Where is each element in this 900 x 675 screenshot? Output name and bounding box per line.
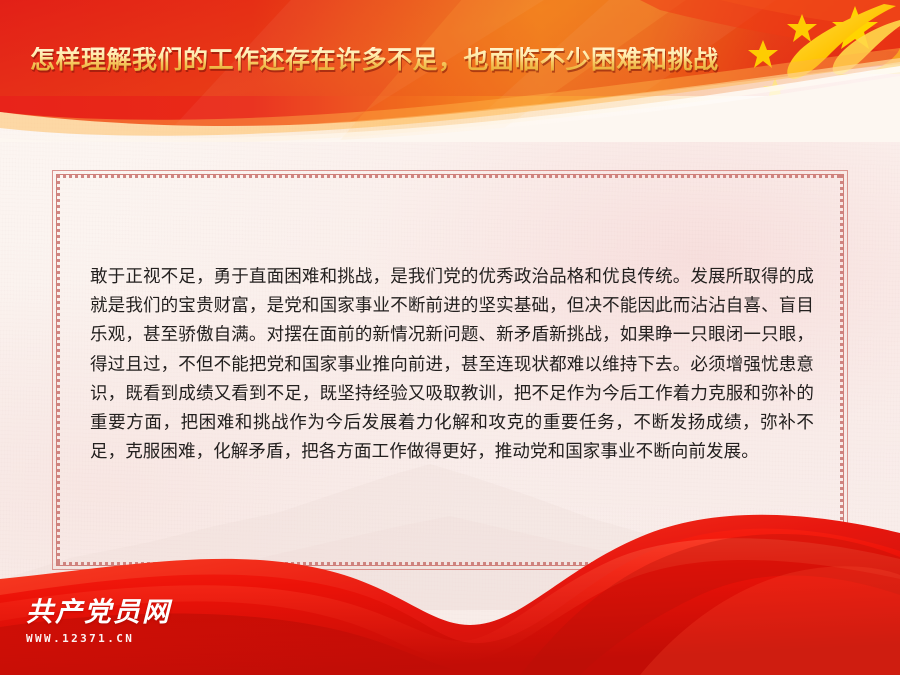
red-silk-ribbon: [0, 475, 900, 675]
site-logo[interactable]: 共产党员网 WWW.12371.CN: [26, 599, 226, 645]
header-banner: 怎样理解我们的工作还存在许多不足，也面临不少困难和挑战: [0, 0, 900, 142]
body-paragraph: 敢于正视不足，勇于直面困难和挑战，是我们党的优秀政治品格和优良传统。发展所取得的…: [90, 263, 814, 467]
poster-canvas: 怎样理解我们的工作还存在许多不足，也面临不少困难和挑战 敢于正视不足，勇于直面困…: [0, 0, 900, 675]
page-title: 怎样理解我们的工作还存在许多不足，也面临不少困难和挑战: [30, 47, 719, 72]
site-logo-url: WWW.12371.CN: [26, 632, 226, 645]
site-logo-text: 共产党员网: [26, 599, 226, 626]
